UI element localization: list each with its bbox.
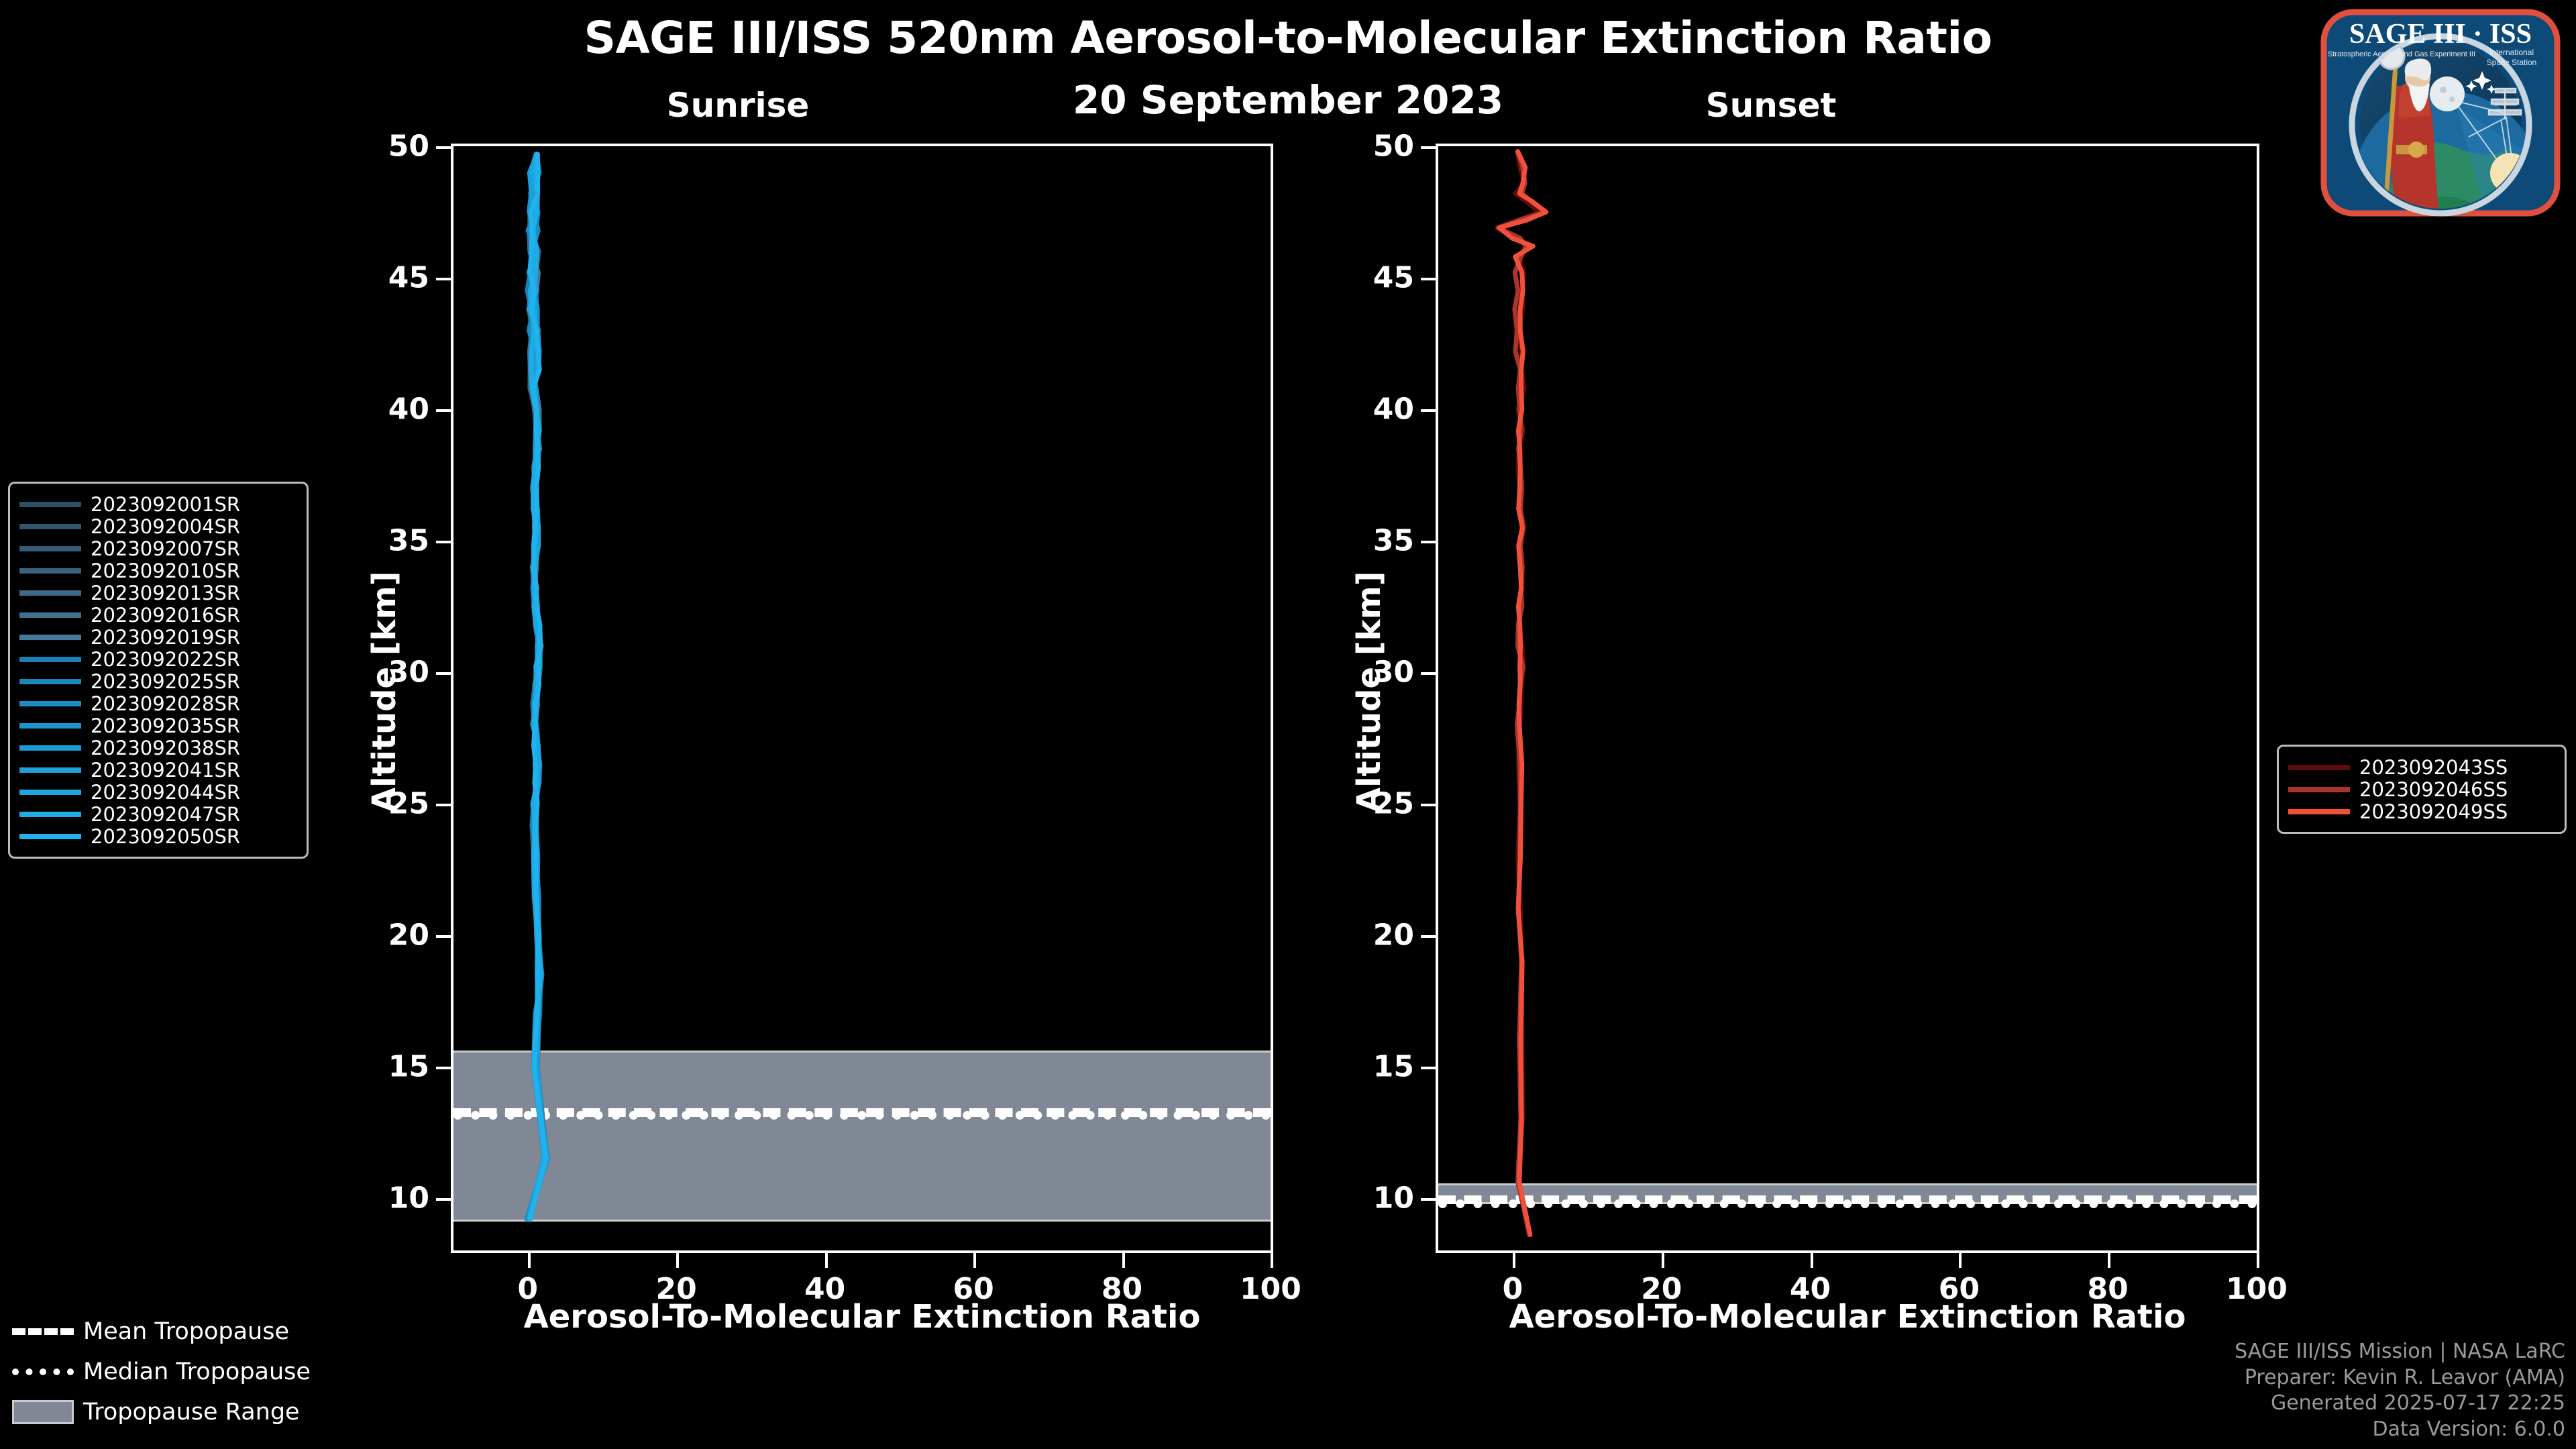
- y-tick: [1421, 1067, 1436, 1069]
- sunrise-legend-item[interactable]: 2023092028SR: [19, 692, 294, 714]
- y-tick: [1421, 935, 1436, 938]
- legend-color-swatch: [19, 834, 81, 839]
- legend-color-swatch: [19, 524, 81, 529]
- tropopause-range-swatch: [12, 1400, 74, 1424]
- sunrise-legend-item[interactable]: 2023092047SR: [19, 803, 294, 825]
- legend-color-swatch: [19, 657, 81, 662]
- legend-item-label: 2023092049SS: [2359, 800, 2508, 823]
- tropopause-legend-item: Median Tropopause: [12, 1352, 361, 1392]
- sunrise-legend-item[interactable]: 2023092001SR: [19, 493, 294, 515]
- legend-item-label: 2023092019SR: [91, 626, 240, 649]
- legend-item-label: 2023092038SR: [91, 737, 240, 759]
- x-tick: [1959, 1253, 1962, 1268]
- sunrise-legend-item[interactable]: 2023092050SR: [19, 825, 294, 847]
- y-tick-label: 10: [343, 1181, 429, 1215]
- y-tick-label: 15: [1328, 1049, 1414, 1083]
- legend-item-label: 2023092050SR: [91, 825, 240, 848]
- median-tropopause-swatch: [12, 1368, 74, 1375]
- y-tick: [1421, 672, 1436, 675]
- y-tick: [436, 935, 451, 938]
- x-tick: [2108, 1253, 2110, 1268]
- sunrise-legend-item[interactable]: 2023092038SR: [19, 737, 294, 759]
- sunrise-x-axis-label: Aerosol-To-Molecular Extinction Ratio: [451, 1298, 1273, 1336]
- y-tick-label: 50: [1328, 129, 1414, 164]
- sunset-profile-curves: [1438, 146, 2257, 1250]
- sunrise-plot-area: [451, 144, 1273, 1253]
- sunrise-legend-item[interactable]: 2023092013SR: [19, 582, 294, 604]
- y-tick-label: 35: [343, 523, 429, 557]
- tropopause-legend-label: Median Tropopause: [83, 1358, 311, 1385]
- legend-color-swatch: [19, 745, 81, 751]
- y-tick-label: 10: [1328, 1181, 1414, 1215]
- tropopause-legend-label: Tropopause Range: [83, 1399, 300, 1426]
- x-tick: [2257, 1253, 2259, 1268]
- y-tick: [1421, 409, 1436, 412]
- y-tick: [1421, 278, 1436, 280]
- y-tick: [1421, 1198, 1436, 1201]
- x-tick: [1811, 1253, 1813, 1268]
- legend-color-swatch: [19, 790, 81, 795]
- legend-color-swatch: [2288, 787, 2350, 792]
- sunrise-legend-item[interactable]: 2023092041SR: [19, 759, 294, 781]
- y-tick: [436, 146, 451, 149]
- legend-color-swatch: [2288, 765, 2350, 770]
- patch-subtitle-right-2: Space Station: [2487, 58, 2537, 67]
- legend-color-swatch: [19, 812, 81, 817]
- legend-item-label: 2023092004SR: [91, 515, 240, 538]
- legend-item-label: 2023092025SR: [91, 670, 240, 693]
- x-tick: [1122, 1253, 1125, 1268]
- page-title: SAGE III/ISS 520nm Aerosol-to-Molecular …: [0, 12, 2576, 64]
- footer-attribution: SAGE III/ISS Mission | NASA LaRC Prepare…: [2235, 1339, 2565, 1442]
- legend-color-swatch: [19, 701, 81, 706]
- tropopause-legend-item: Mean Tropopause: [12, 1311, 361, 1352]
- footer-mission: SAGE III/ISS Mission | NASA LaRC: [2235, 1339, 2565, 1364]
- legend-color-swatch: [19, 590, 81, 596]
- y-tick-label: 45: [1328, 260, 1414, 294]
- x-tick: [1662, 1253, 1664, 1268]
- footer-generated: Generated 2025-07-17 22:25: [2235, 1391, 2565, 1416]
- legend-color-swatch: [19, 679, 81, 684]
- legend-item-label: 2023092016SR: [91, 604, 240, 627]
- legend-item-label: 2023092035SR: [91, 714, 240, 737]
- legend-color-swatch: [19, 568, 81, 574]
- y-tick: [1421, 804, 1436, 806]
- sage-iii-iss-mission-patch-logo: BALL · NASA LANGLEY RESEARCH CENTER · TA…: [2316, 5, 2565, 219]
- legend-color-swatch: [19, 723, 81, 729]
- sunrise-legend-item[interactable]: 2023092019SR: [19, 626, 294, 648]
- sunset-legend-item[interactable]: 2023092049SS: [2288, 800, 2553, 822]
- sunset-panel-title: Sunset: [1637, 86, 1905, 125]
- footer-preparer: Preparer: Kevin R. Leavor (AMA): [2235, 1365, 2565, 1391]
- x-tick: [528, 1253, 531, 1268]
- x-tick: [973, 1253, 976, 1268]
- legend-color-swatch: [19, 502, 81, 507]
- legend-color-swatch: [2288, 809, 2350, 814]
- tropopause-legend-item: Tropopause Range: [12, 1392, 361, 1432]
- date-subtitle: 20 September 2023: [0, 77, 2576, 123]
- sunrise-panel-title: Sunrise: [604, 86, 872, 125]
- legend-item-label: 2023092028SR: [91, 692, 240, 715]
- legend-color-swatch: [19, 612, 81, 618]
- y-tick-label: 45: [343, 260, 429, 294]
- legend-color-swatch: [19, 635, 81, 640]
- footer-data-version: Data Version: 6.0.0: [2235, 1417, 2565, 1442]
- sunrise-legend-item[interactable]: 2023092004SR: [19, 515, 294, 537]
- sunrise-legend-item[interactable]: 2023092010SR: [19, 559, 294, 582]
- sunrise-y-axis-label: Altitude [km]: [366, 571, 403, 812]
- patch-subtitle-right-1: International: [2489, 48, 2534, 57]
- sunset-legend-item[interactable]: 2023092046SS: [2288, 778, 2553, 800]
- y-tick: [436, 278, 451, 280]
- sunrise-legend-item[interactable]: 2023092025SR: [19, 670, 294, 692]
- sunrise-legend[interactable]: 2023092001SR2023092004SR2023092007SR2023…: [8, 482, 309, 859]
- sunrise-profile-curves: [453, 146, 1271, 1250]
- y-tick-label: 35: [1328, 523, 1414, 557]
- y-tick-label: 15: [343, 1049, 429, 1083]
- sunset-legend[interactable]: 2023092043SS2023092046SS2023092049SS: [2277, 745, 2567, 834]
- figure-root: SAGE III/ISS 520nm Aerosol-to-Molecular …: [0, 0, 2576, 1449]
- x-tick: [825, 1253, 828, 1268]
- legend-item-label: 2023092046SS: [2359, 778, 2508, 801]
- legend-color-swatch: [19, 546, 81, 551]
- y-tick-label: 40: [1328, 392, 1414, 426]
- y-tick-label: 40: [343, 392, 429, 426]
- y-tick: [436, 1198, 451, 1201]
- sunset-y-axis-label: Altitude [km]: [1350, 571, 1388, 812]
- y-tick: [1421, 541, 1436, 543]
- sunrise-legend-item[interactable]: 2023092022SR: [19, 648, 294, 670]
- legend-item-label: 2023092010SR: [91, 559, 240, 582]
- y-tick: [436, 409, 451, 412]
- sunset-x-axis-label: Aerosol-To-Molecular Extinction Ratio: [1436, 1298, 2259, 1336]
- legend-item-label: 2023092013SR: [91, 582, 240, 604]
- y-tick: [436, 1067, 451, 1069]
- patch-subtitle-left: Stratospheric Aerosol and Gas Experiment…: [2328, 50, 2475, 58]
- y-tick: [436, 672, 451, 675]
- sunrise-legend-item[interactable]: 2023092035SR: [19, 714, 294, 737]
- legend-item-label: 2023092041SR: [91, 759, 240, 782]
- y-tick-label: 50: [343, 129, 429, 164]
- legend-item-label: 2023092022SR: [91, 648, 240, 671]
- legend-item-label: 2023092047SR: [91, 803, 240, 826]
- y-tick: [436, 541, 451, 543]
- sunset-plot-area: [1436, 144, 2259, 1253]
- x-tick: [1271, 1253, 1273, 1268]
- legend-color-swatch: [19, 767, 81, 773]
- y-tick-label: 20: [343, 918, 429, 952]
- patch-title: SAGE III · ISS: [2349, 19, 2532, 50]
- sunrise-legend-item[interactable]: 2023092007SR: [19, 537, 294, 559]
- x-tick: [676, 1253, 679, 1268]
- sunset-legend-item[interactable]: 2023092043SS: [2288, 756, 2553, 778]
- legend-item-label: 2023092044SR: [91, 781, 240, 804]
- mean-tropopause-swatch: [12, 1328, 74, 1335]
- legend-item-label: 2023092001SR: [91, 493, 240, 516]
- sunrise-legend-item[interactable]: 2023092044SR: [19, 781, 294, 803]
- legend-item-label: 2023092043SS: [2359, 756, 2508, 779]
- tropopause-legend: Mean TropopauseMedian TropopauseTropopau…: [12, 1311, 361, 1432]
- tropopause-legend-label: Mean Tropopause: [83, 1318, 289, 1345]
- y-tick: [436, 804, 451, 806]
- x-tick: [1513, 1253, 1515, 1268]
- y-tick: [1421, 146, 1436, 149]
- y-tick-label: 20: [1328, 918, 1414, 952]
- sunrise-legend-item[interactable]: 2023092016SR: [19, 604, 294, 626]
- legend-item-label: 2023092007SR: [91, 537, 240, 560]
